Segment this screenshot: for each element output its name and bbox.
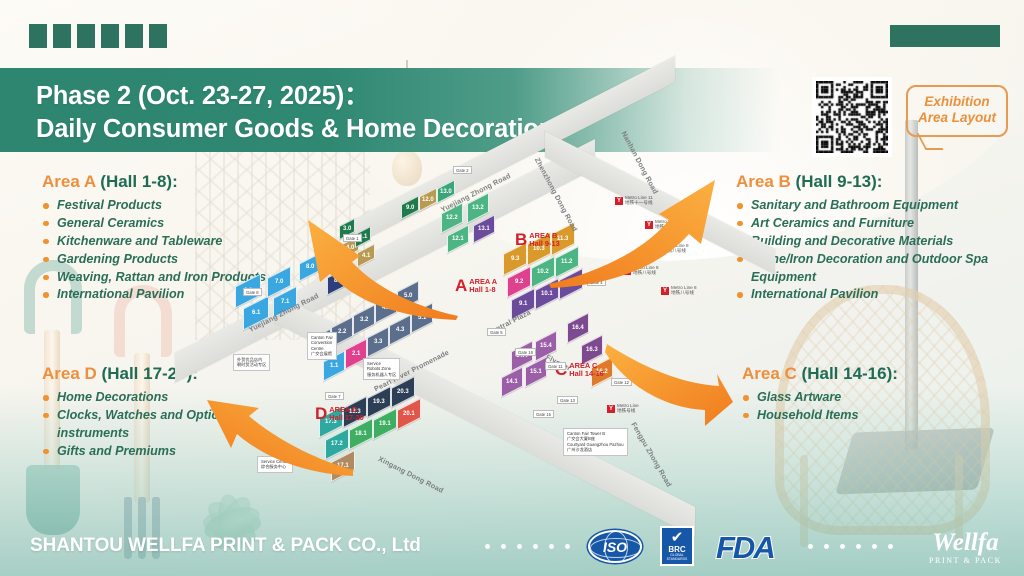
area-a-halls: (Hall 1-8): (100, 172, 177, 191)
hall-label: 14.1 (506, 379, 518, 385)
hall-label: 9.3 (511, 256, 519, 262)
arrow-to-area-a-icon (290, 190, 460, 320)
brand-name: Wellfa (929, 530, 1002, 555)
gate-label: Gate 2 (453, 166, 472, 174)
hall-label: 1.1 (330, 363, 338, 369)
wellfa-brand-logo: Wellfa PRINT & PACK (929, 530, 1002, 565)
hall-label: 15.1 (530, 369, 542, 375)
hall-label: 16.4 (572, 325, 584, 331)
gate-label: Gate 5 (487, 328, 506, 336)
map-note: Service Robots Zone 服务机器人专区 (363, 358, 400, 380)
qr-code-block[interactable] (812, 77, 892, 157)
check-icon: ✔ (671, 530, 684, 545)
hall-label: 2.1 (352, 351, 360, 357)
area-marker-a: AAREA AHall 1-8 (455, 278, 497, 294)
brc-certification-logo: ✔ BRC GLOBAL STANDARDS (660, 526, 694, 566)
hall-label: 19.3 (373, 399, 385, 405)
umbrella-base-graphic (835, 428, 994, 495)
dot-separator-right (808, 544, 893, 549)
decorative-blocks-left (29, 24, 167, 48)
arrow-to-area-b-icon (545, 168, 720, 288)
fda-certification-logo: FDA (716, 530, 774, 566)
company-name: SHANTOU WELLFA PRINT & PACK CO., Ltd (30, 535, 421, 557)
marker-letter: B (515, 232, 527, 247)
road-label: Xingang Dong Road (377, 454, 445, 495)
hall-label: 4.3 (396, 327, 404, 333)
map-note: 外贸优品店内 朝时贸活动专区 (233, 354, 270, 371)
gate-label: Gate 8 (243, 288, 262, 296)
hall-label: 2.2 (338, 329, 346, 335)
poster-root: Phase 2 (Oct. 23-27, 2025)： Daily Consum… (0, 0, 1024, 576)
hall-label: 3.3 (374, 339, 382, 345)
brc-sublabel: GLOBAL STANDARDS (662, 554, 692, 562)
map-note: Canton Fair Convention Centre 广交会展馆 (307, 332, 337, 360)
hall-label: 13.1 (478, 226, 490, 232)
footer: SHANTOU WELLFA PRINT & PACK CO., Ltd ISO… (0, 516, 1024, 576)
hall-label: 15.4 (540, 343, 552, 349)
badge-label: Exhibition Area Layout (918, 94, 996, 127)
hall-block[interactable]: 16.4 (567, 312, 589, 343)
dot-separator-left (485, 544, 570, 549)
gate-label: Gate 15 (533, 410, 554, 418)
metro-icon: Y (661, 287, 669, 295)
hall-label: 9.2 (515, 279, 523, 285)
gate-label: Gate 16 (515, 348, 536, 356)
hall-label: 10.1 (541, 291, 553, 297)
hall-label: 16.3 (586, 347, 598, 353)
arrow-to-area-c-icon (605, 340, 735, 455)
qr-code-icon[interactable] (812, 77, 892, 157)
iso-label: ISO (603, 539, 627, 555)
exhibition-map[interactable]: 6.06.17.07.18.08.14.04.13.03.19.012.013.… (215, 150, 815, 510)
arrow-to-area-d-icon (205, 382, 355, 477)
area-a-letter: Area A (42, 172, 96, 191)
fda-label: FDA (716, 530, 774, 566)
hall-block[interactable]: 14.1 (501, 366, 523, 397)
marker-hall-label: Hall 14-16 (569, 370, 604, 378)
decorative-bar-right (890, 25, 1000, 47)
hall-label: 9.1 (519, 301, 527, 307)
hall-label: 6.1 (252, 310, 260, 316)
exhibition-area-layout-badge: Exhibition Area Layout (906, 85, 1008, 137)
hall-label: 20.3 (397, 389, 409, 395)
hall-label: 13.2 (472, 205, 484, 211)
gate-label: Gate 13 (557, 396, 578, 404)
gate-label: Gate 11 (545, 362, 566, 370)
hall-label: 20.1 (403, 411, 415, 417)
hall-label: 7.0 (275, 279, 283, 285)
iso-certification-logo: ISO (588, 530, 642, 563)
marker-hall-label: Hall 1-8 (469, 286, 497, 294)
hall-label: 18.1 (355, 431, 367, 437)
area-c-halls: (Hall 14-16): (802, 364, 898, 383)
hall-label: 19.1 (379, 421, 391, 427)
brand-subtitle: PRINT & PACK (929, 556, 1002, 565)
area-d-letter: Area D (42, 364, 97, 383)
